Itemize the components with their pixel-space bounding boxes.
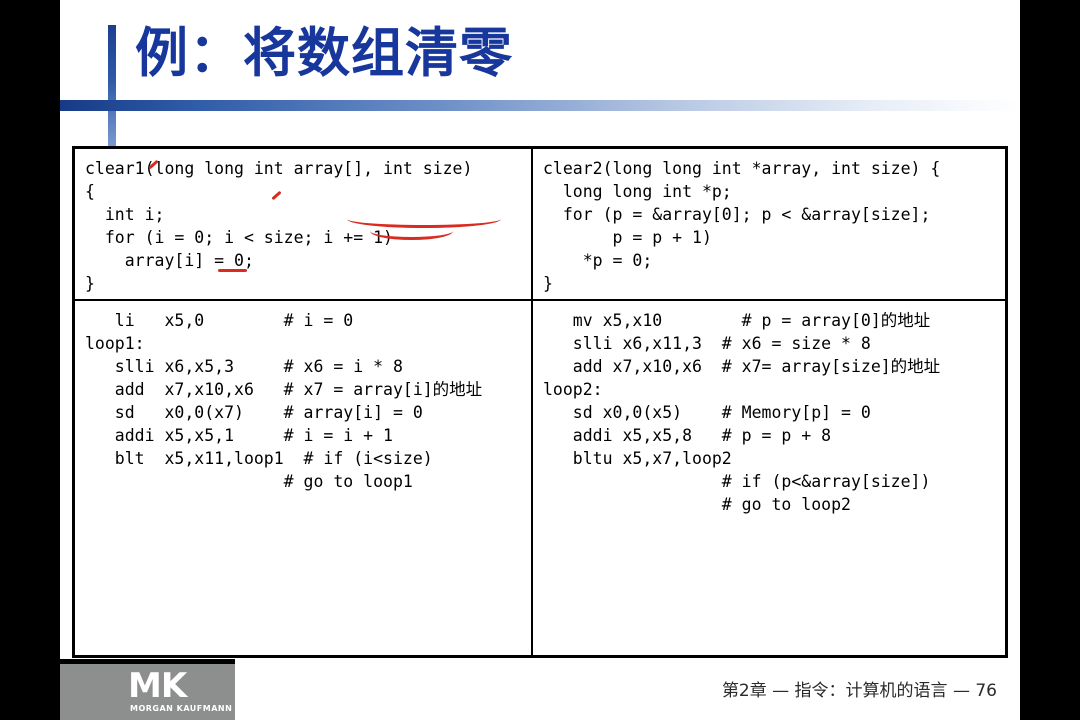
underline-array-index-c-icon [218,269,247,272]
slide-canvas: 例：将数组清零 clear1(long long int array[], in… [60,0,1020,720]
morgan-kaufmann-logo: MK MK MORGAN KAUFMANN [60,664,235,720]
page-title: 例：将数组清零 [135,14,835,94]
code-comparison-table: clear1(long long int array[], int size) … [72,146,1008,658]
clear2-c-code: clear2(long long int *array, int size) {… [543,157,1005,295]
table-cell-clear2-asm: mv x5,x10 # p = array[0]的地址 slli x6,x11,… [533,301,1005,655]
table-row: li x5,0 # i = 0 loop1: slli x6,x5,3 # x6… [75,301,1005,655]
title-accent-horizontal-bar [60,100,1020,111]
slide-root: 例：将数组清零 clear1(long long int array[], in… [0,0,1080,720]
title-accent-vertical-bar [108,25,116,148]
table-cell-clear1-asm: li x5,0 # i = 0 loop1: slli x6,x5,3 # x6… [75,301,533,655]
mk-logo-mark: MK [128,669,186,703]
table-cell-clear2-c: clear2(long long int *array, int size) {… [533,149,1005,299]
clear1-riscv-code: li x5,0 # i = 0 loop1: slli x6,x5,3 # x6… [85,309,531,493]
mk-logo-subtitle: MORGAN KAUFMANN [130,704,232,713]
clear2-riscv-code: mv x5,x10 # p = array[0]的地址 slli x6,x11,… [543,309,1005,516]
table-row: clear1(long long int array[], int size) … [75,149,1005,301]
footer-caption: 第2章 — 指令：计算机的语言 — 76 [722,676,997,701]
